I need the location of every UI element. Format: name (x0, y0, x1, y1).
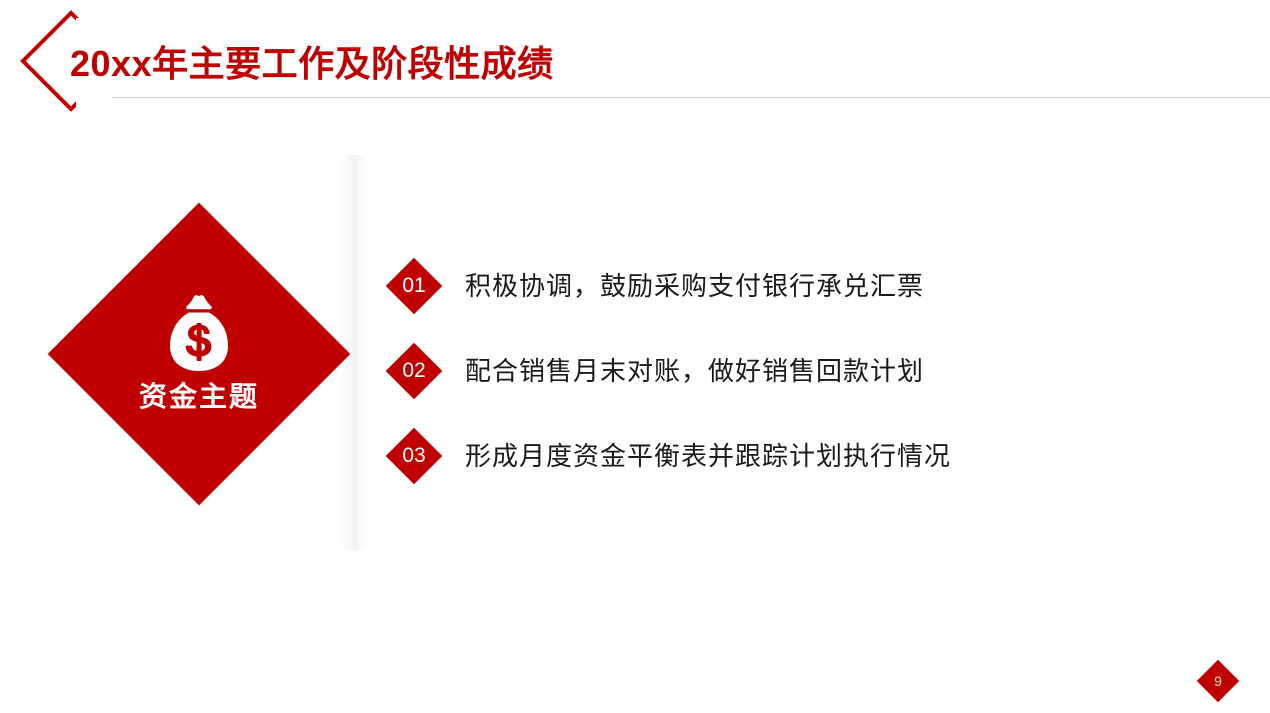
page-title: 20xx年主要工作及阶段性成绩 (70, 42, 554, 86)
bullet-number: 02 (385, 342, 443, 400)
page-number: 9 (1194, 657, 1242, 705)
topic-content: 资金主题 (48, 203, 350, 505)
bullet-text: 形成月度资金平衡表并跟踪计划执行情况 (465, 439, 951, 473)
topic-label: 资金主题 (139, 380, 259, 414)
bullet-number: 03 (385, 427, 443, 485)
list-item[interactable]: 01 积极协调，鼓励采购支付银行承兑汇票 (385, 256, 1225, 316)
bullet-number: 01 (385, 257, 443, 315)
list-item[interactable]: 03 形成月度资金平衡表并跟踪计划执行情况 (385, 426, 1225, 486)
bullet-number-badge: 03 (385, 427, 443, 485)
topic-diamond-card: 资金主题 (48, 203, 350, 505)
bullet-list: 01 积极协调，鼓励采购支付银行承兑汇票 02 配合销售月末对账，做好销售回款计… (385, 256, 1225, 511)
vertical-divider (340, 155, 366, 550)
bullet-number-badge: 02 (385, 342, 443, 400)
slide: 20xx年主要工作及阶段性成绩 资金主题 01 积极协调，鼓励采 (0, 0, 1270, 713)
money-bag-icon (167, 294, 231, 374)
bullet-number-badge: 01 (385, 257, 443, 315)
list-item[interactable]: 02 配合销售月末对账，做好销售回款计划 (385, 341, 1225, 401)
page-number-badge: 9 (1194, 657, 1242, 705)
bullet-text: 配合销售月末对账，做好销售回款计划 (465, 354, 924, 388)
slide-header: 20xx年主要工作及阶段性成绩 (0, 0, 1270, 120)
header-divider (112, 97, 1270, 98)
bullet-text: 积极协调，鼓励采购支付银行承兑汇票 (465, 269, 924, 303)
